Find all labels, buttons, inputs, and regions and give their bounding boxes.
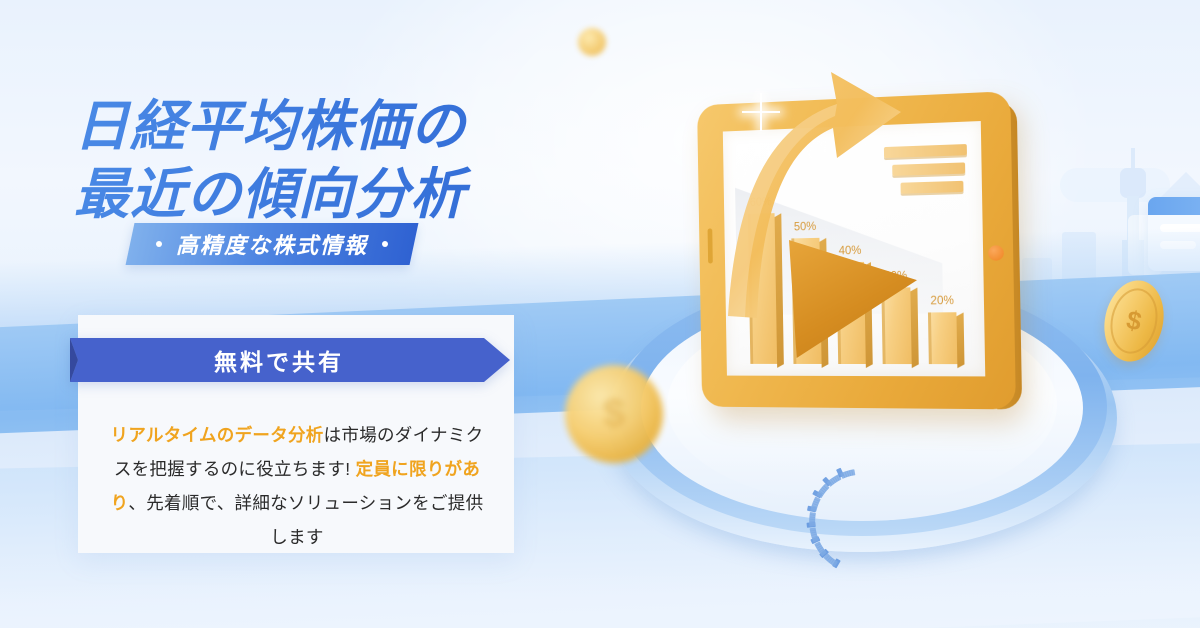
- tablet-home-button: [988, 245, 1004, 261]
- headline-line-1: 日経平均株価の: [74, 92, 594, 160]
- promo-banner: $ 60%50%40%30%20%: [0, 0, 1200, 628]
- body-highlight-1: リアルタイムのデータ分析: [111, 425, 324, 445]
- page-title: 日経平均株価の 最近の傾向分析: [74, 92, 594, 228]
- headline-line-2: 最近の傾向分析: [74, 160, 594, 228]
- sparkle-icon: [741, 92, 781, 132]
- body-plain-2: 、先着順で、詳細なソリューションをご提供します: [128, 493, 483, 547]
- subtitle-badge: 高精度な株式情報: [126, 223, 419, 265]
- coin-left: $: [565, 365, 663, 463]
- subtitle-badge-label: 高精度な株式情報: [176, 228, 368, 260]
- growth-arrow-icon: [665, 54, 955, 334]
- card-body-text: リアルタイムのデータ分析は市場のダイナミクスを把握するのに役立ちます! 定員に限…: [106, 418, 488, 554]
- ribbon-label: 無料で共有: [70, 338, 510, 382]
- coin-top: [578, 28, 606, 56]
- bullet-dot-right-icon: [382, 241, 388, 247]
- bullet-dot-left-icon: [156, 241, 162, 247]
- coin-symbol: $: [603, 392, 625, 437]
- hero-illustration: $ 60%50%40%30%20%: [545, 40, 1200, 580]
